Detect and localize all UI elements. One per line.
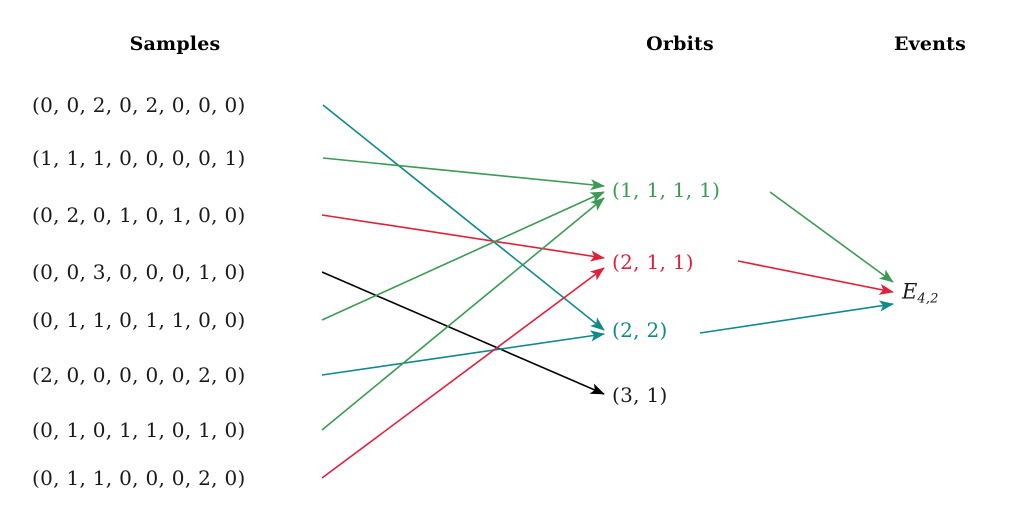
sample-vector-5: (2, 0, 0, 0, 0, 0, 2, 0) (32, 363, 246, 387)
sample-vector-7: (0, 1, 1, 0, 0, 0, 2, 0) (32, 466, 246, 490)
sample-vector-4: (0, 1, 1, 0, 1, 1, 0, 0) (32, 308, 246, 332)
edge-sample-5-to-2_2 (322, 334, 604, 375)
edge-2_2-to-E_4_2 (700, 304, 893, 333)
edge-sample-7-to-2_1_1 (322, 268, 604, 478)
diagram-canvas: Samples Orbits Events (0, 0, 2, 0, 2, 0,… (0, 0, 1012, 506)
sample-vector-3: (0, 0, 3, 0, 0, 0, 1, 0) (32, 260, 246, 284)
orbit-label-2-2: (2, 2) (612, 318, 668, 342)
edge-sample-4-to-1_1_1_1 (322, 192, 604, 320)
edge-sample-3-to-3_1 (322, 272, 604, 394)
event-label-E42: E4,2 (902, 280, 939, 307)
sample-vector-0: (0, 0, 2, 0, 2, 0, 0, 0) (32, 93, 246, 117)
sample-vector-6: (0, 1, 0, 1, 1, 0, 1, 0) (32, 418, 246, 442)
edge-1_1_1_1-to-E_4_2 (770, 192, 893, 282)
edge-sample-0-to-2_2 (323, 105, 604, 330)
orbit-label-3-1: (3, 1) (612, 383, 668, 407)
column-header-events: Events (894, 33, 966, 55)
sample-vector-2: (0, 2, 0, 1, 0, 1, 0, 0) (32, 203, 246, 227)
event-symbol: E (902, 280, 917, 304)
edge-sample-1-to-1_1_1_1 (323, 158, 604, 186)
orbit-label-2-1-1: (2, 1, 1) (612, 250, 694, 274)
orbit-label-1-1-1-1: (1, 1, 1, 1) (612, 178, 720, 202)
edge-sample-6-to-1_1_1_1 (322, 198, 604, 430)
sample-vector-1: (1, 1, 1, 0, 0, 0, 0, 1) (32, 146, 246, 170)
event-subscript: 4,2 (917, 291, 938, 306)
edge-sample-2-to-2_1_1 (322, 215, 604, 258)
column-header-orbits: Orbits (646, 33, 714, 55)
column-header-samples: Samples (130, 33, 221, 55)
edge-2_1_1-to-E_4_2 (738, 261, 893, 292)
edges (322, 105, 893, 478)
